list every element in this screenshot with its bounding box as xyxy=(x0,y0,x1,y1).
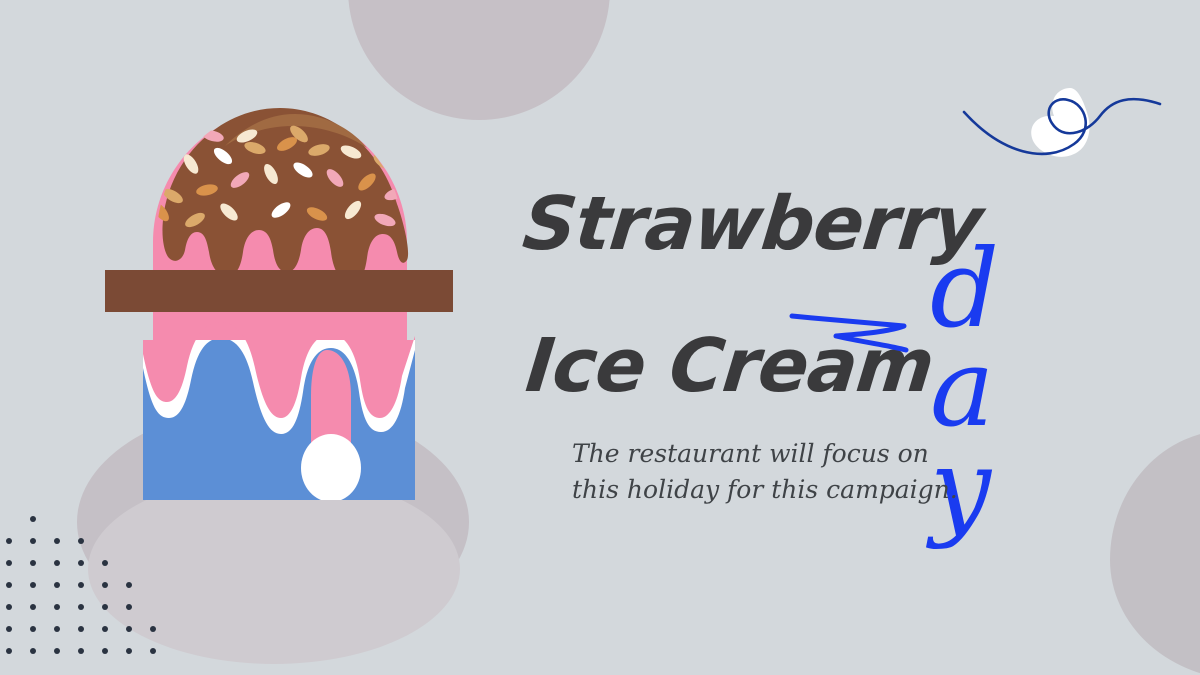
grid-dot-icon xyxy=(30,516,36,522)
grid-dot-icon xyxy=(78,538,84,544)
grid-dot-icon xyxy=(78,582,84,588)
grid-dot-icon xyxy=(6,604,12,610)
grid-dot-icon xyxy=(126,582,132,588)
grid-dot-icon xyxy=(150,648,156,654)
grid-dot-icon xyxy=(102,626,108,632)
grid-dot-icon xyxy=(102,582,108,588)
wooden-stick-band-shape xyxy=(105,270,453,312)
grid-dot-icon xyxy=(6,538,12,544)
grid-dot-icon xyxy=(54,604,60,610)
grid-dot-icon xyxy=(6,582,12,588)
grid-dot-icon xyxy=(126,648,132,654)
grid-dot-icon xyxy=(30,604,36,610)
subtitle-text: The restaurant will focus on this holida… xyxy=(572,436,972,507)
grid-dot-icon xyxy=(78,604,84,610)
poster-canvas: Strawberry Ice Cream day The restaurant … xyxy=(0,0,1200,675)
grid-dot-icon xyxy=(78,648,84,654)
grid-dot-icon xyxy=(102,560,108,566)
grid-dot-icon xyxy=(30,648,36,654)
grid-dot-icon xyxy=(126,626,132,632)
grid-dot-icon xyxy=(150,626,156,632)
grid-dot-icon xyxy=(54,560,60,566)
plate-highlight-icon xyxy=(88,474,460,664)
cup-shape xyxy=(143,322,415,500)
zigzag-squiggle-icon xyxy=(788,306,938,360)
grid-dot-icon xyxy=(78,626,84,632)
heart-doodle-icon xyxy=(962,58,1162,178)
grid-dot-icon xyxy=(30,538,36,544)
grid-dot-icon xyxy=(102,648,108,654)
grid-dot-icon xyxy=(54,538,60,544)
grid-dot-icon xyxy=(54,626,60,632)
grid-dot-icon xyxy=(54,648,60,654)
grid-dot-icon xyxy=(126,604,132,610)
grid-dot-icon xyxy=(6,626,12,632)
grid-dot-icon xyxy=(30,626,36,632)
sprinkle-icon xyxy=(143,163,167,181)
grid-dot-icon xyxy=(102,604,108,610)
grid-dot-icon xyxy=(30,560,36,566)
grid-dot-icon xyxy=(78,560,84,566)
grid-dot-icon xyxy=(54,582,60,588)
grid-dot-icon xyxy=(6,560,12,566)
strawberry-ice-cream-illustration xyxy=(95,100,465,500)
grid-dot-icon xyxy=(6,648,12,654)
grid-dot-icon xyxy=(30,582,36,588)
circle-blob-bottom-right-icon xyxy=(1110,430,1200,675)
